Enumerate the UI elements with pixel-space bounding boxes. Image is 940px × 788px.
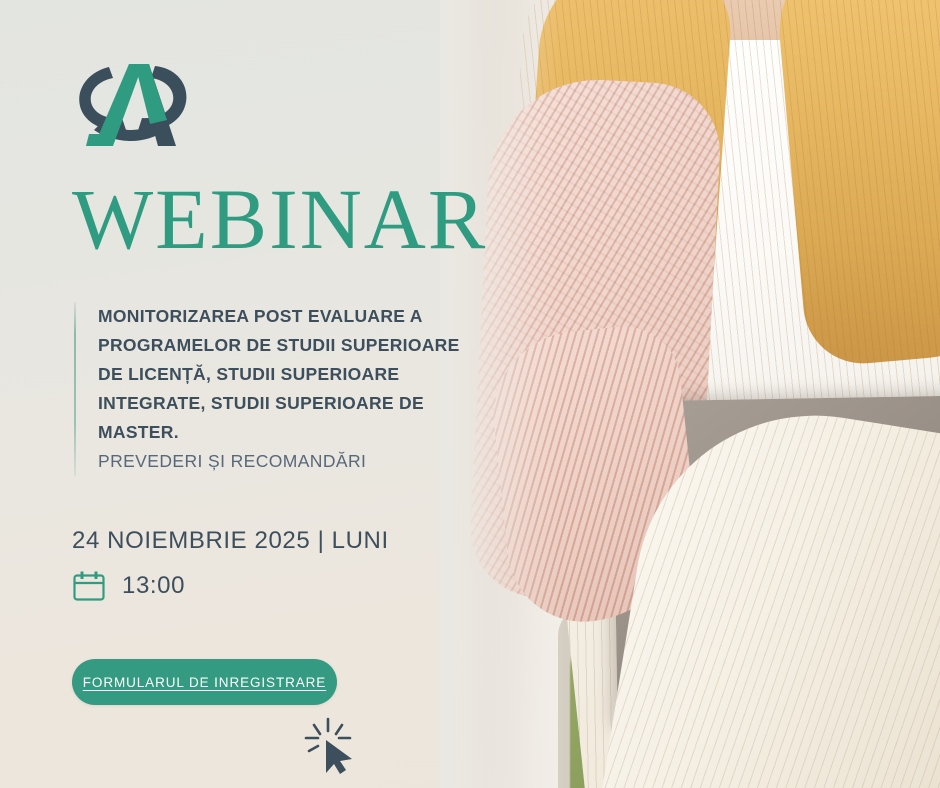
webinar-poster: WEBINAR MONITORIZAREA POST EVALUARE A PR…: [0, 0, 940, 788]
calendar-icon: [72, 570, 106, 602]
headline: MONITORIZAREA POST EVALUARE A PROGRAMELO…: [98, 302, 474, 446]
registration-form-button-label: FORMULARUL DE INREGISTRARE: [83, 675, 326, 690]
click-cursor-icon: [303, 716, 361, 776]
event-time: 13:00: [122, 572, 185, 600]
accent-bar: [74, 302, 76, 476]
event-date: 24 NOIEMBRIE 2025 | LUNI: [72, 527, 389, 555]
headline-block: MONITORIZAREA POST EVALUARE A PROGRAMELO…: [74, 302, 474, 476]
hero-photo: [440, 0, 940, 788]
registration-form-button[interactable]: FORMULARUL DE INREGISTRARE: [72, 659, 337, 705]
anacec-logo-icon: [72, 46, 192, 154]
headline-text-group: MONITORIZAREA POST EVALUARE A PROGRAMELO…: [98, 302, 474, 476]
page-title: WEBINAR: [72, 176, 487, 262]
event-time-row: 13:00: [72, 570, 185, 602]
subheadline: PREVEDERI ȘI RECOMANDĂRI: [98, 448, 474, 475]
